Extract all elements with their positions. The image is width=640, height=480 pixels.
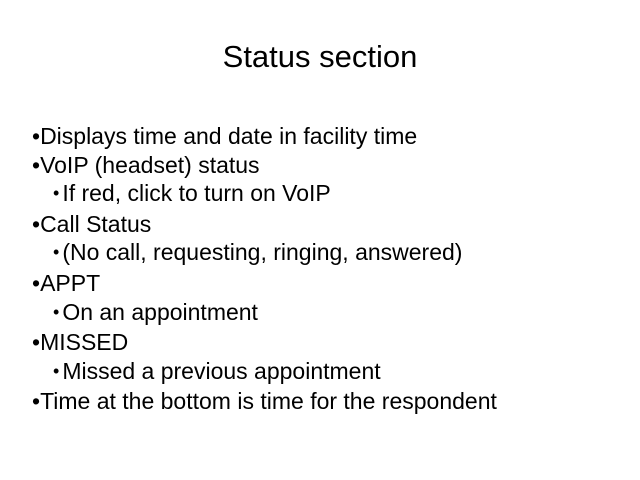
bullet-item-label: If red, click to turn on VoIP <box>62 180 330 206</box>
bullet-point-icon: • <box>32 151 40 180</box>
bullet-point-icon: • <box>53 179 59 208</box>
bullet-item: •Time at the bottom is time for the resp… <box>26 387 618 416</box>
bullet-item-label: Call Status <box>40 211 151 237</box>
bullet-item: •(No call, requesting, ringing, answered… <box>26 238 618 269</box>
bullet-point-icon: • <box>32 269 40 298</box>
bullet-item-label: VoIP (headset) status <box>40 152 260 178</box>
bullet-point-icon: • <box>53 357 59 386</box>
bullet-item: •Call Status <box>26 210 618 239</box>
bullet-item: •VoIP (headset) status <box>26 151 618 180</box>
bullet-point-icon: • <box>32 387 40 416</box>
bullet-item: •Displays time and date in facility time <box>26 122 618 151</box>
bullet-item-label: MISSED <box>40 329 128 355</box>
bullet-item-label: APPT <box>40 270 100 296</box>
bullet-point-icon: • <box>32 122 40 151</box>
bullet-list: •Displays time and date in facility time… <box>26 122 618 416</box>
bullet-point-icon: • <box>53 238 59 267</box>
bullet-item: •On an appointment <box>26 298 618 329</box>
bullet-item: •Missed a previous appointment <box>26 357 618 388</box>
bullet-item-label: On an appointment <box>62 299 258 325</box>
bullet-item-label: Displays time and date in facility time <box>40 123 417 149</box>
bullet-item-label: (No call, requesting, ringing, answered) <box>62 239 462 265</box>
bullet-item: •APPT <box>26 269 618 298</box>
bullet-point-icon: • <box>53 298 59 327</box>
bullet-item: •If red, click to turn on VoIP <box>26 179 618 210</box>
slide: Status section •Displays time and date i… <box>0 0 640 480</box>
bullet-point-icon: • <box>32 210 40 239</box>
bullet-point-icon: • <box>32 328 40 357</box>
page-title: Status section <box>0 38 640 76</box>
bullet-item-label: Time at the bottom is time for the respo… <box>40 388 497 414</box>
bullet-item: •MISSED <box>26 328 618 357</box>
bullet-item-label: Missed a previous appointment <box>62 358 380 384</box>
